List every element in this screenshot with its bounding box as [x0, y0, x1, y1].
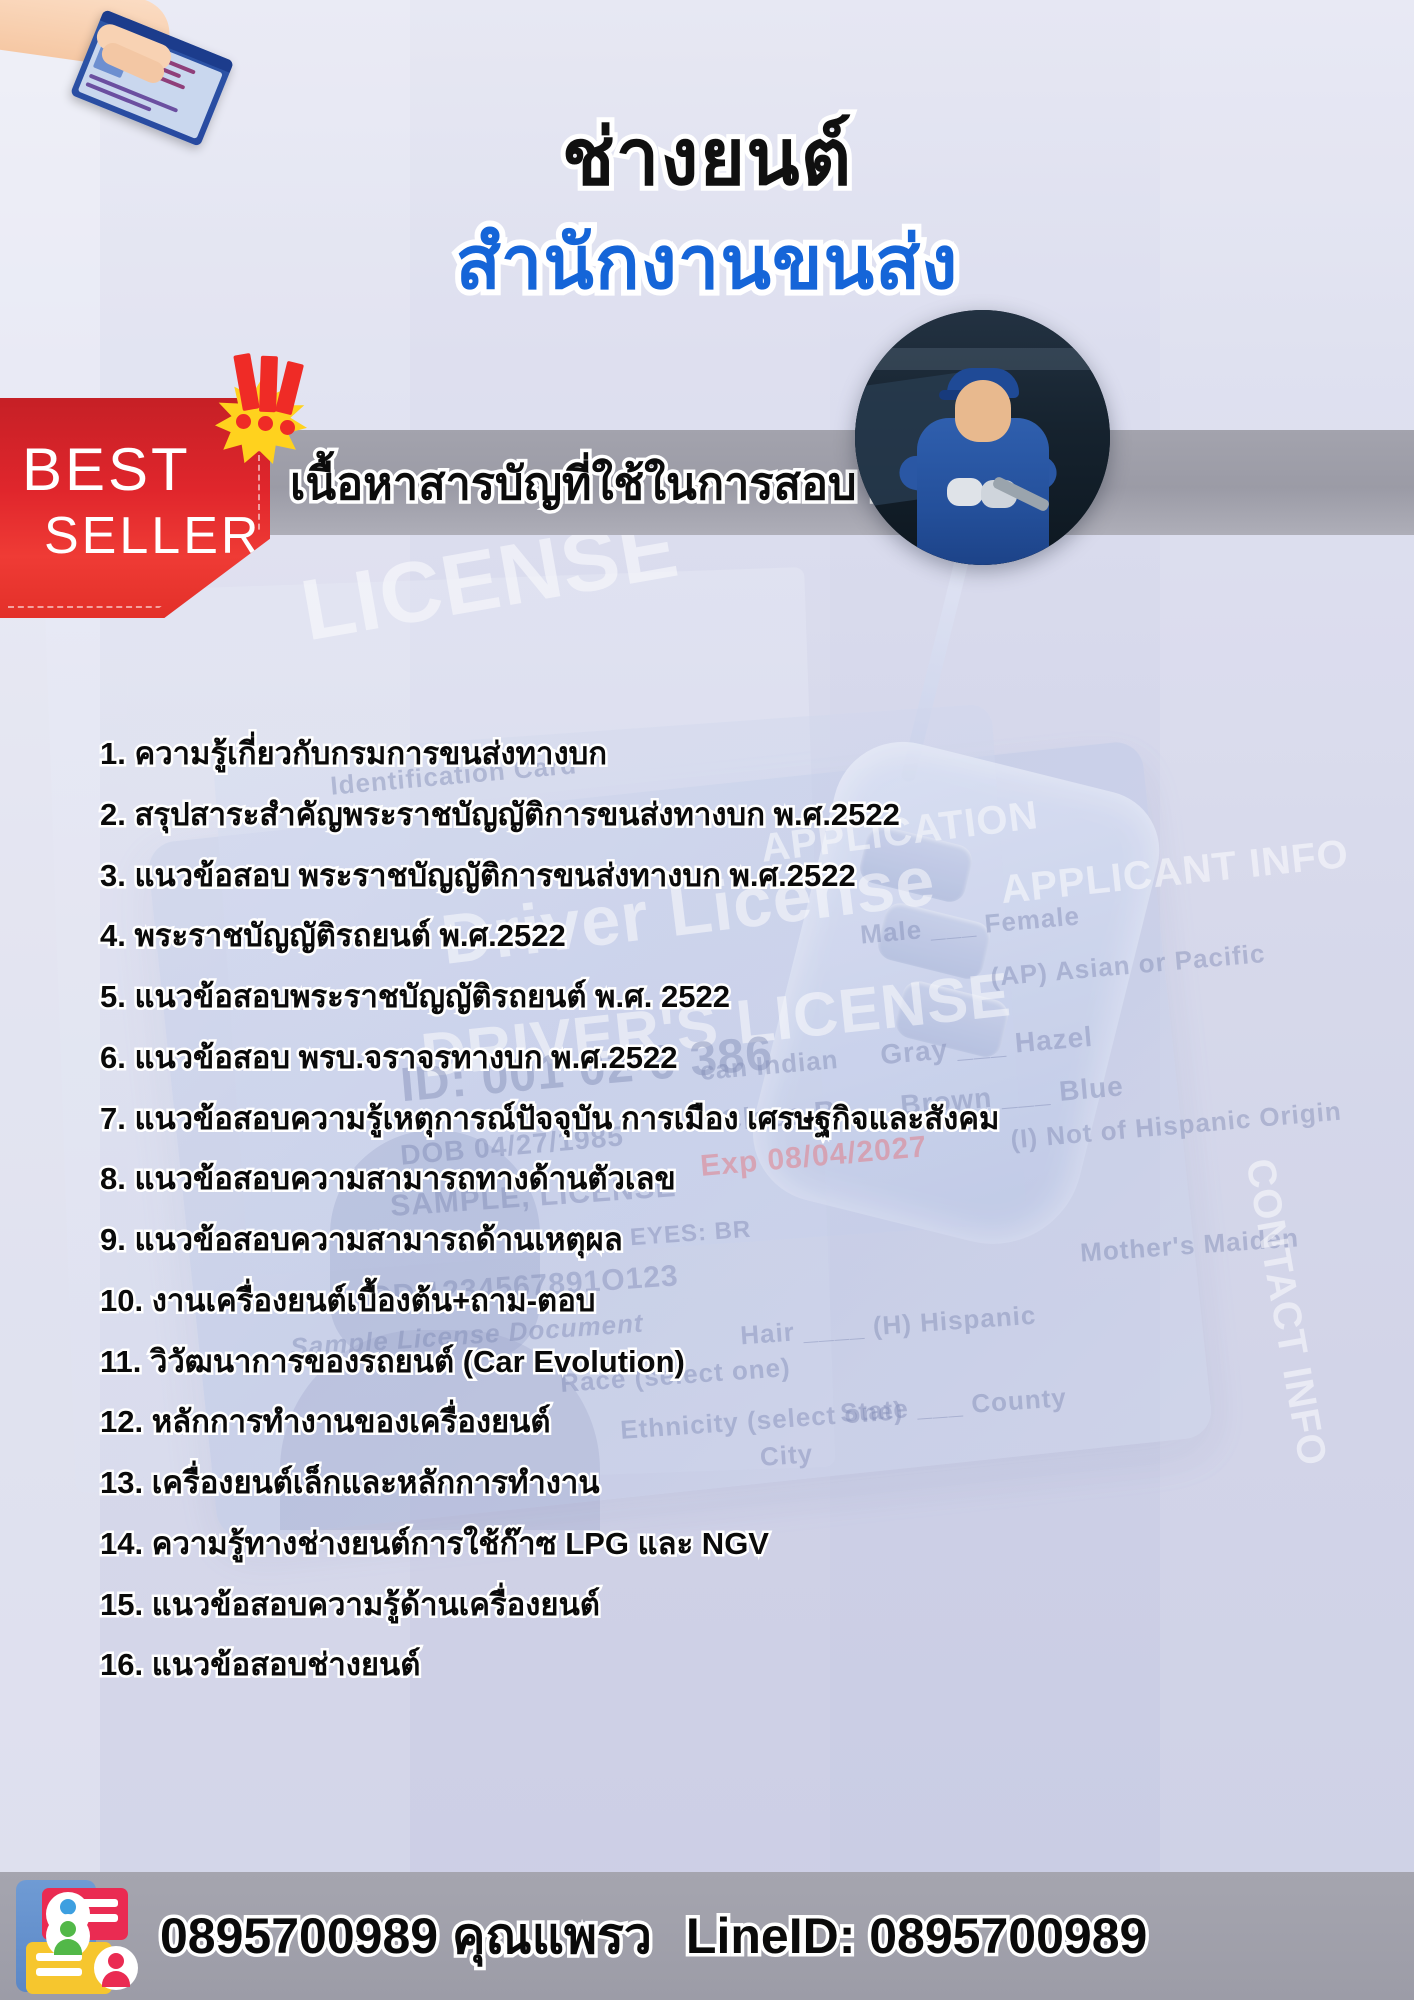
list-item: 15. แนวข้อสอบความรู้ด้านเครื่องยนต์ [100, 1586, 1250, 1625]
list-item: 10. งานเครื่องยนต์เบื้องต้น+ถาม-ตอบ [100, 1282, 1250, 1321]
contact-line-id[interactable]: LineID: 0895700989 [686, 1907, 1147, 1965]
list-item: 14. ความรู้ทางช่างยนต์การใช้ก๊าซ LPG และ… [100, 1525, 1250, 1564]
avatar [94, 1946, 138, 1990]
avatar [46, 1914, 90, 1958]
page-subtitle: สำนักงานขนส่ง [0, 226, 1414, 300]
technician-photo [855, 310, 1110, 565]
section-banner-label: เนื้อหาสารบัญที่ใช้ในการสอบ ดังนี้ [290, 437, 1290, 529]
list-item: 3. แนวข้อสอบ พระราชบัญญัติการขนส่งทางบก … [100, 857, 1250, 896]
list-item: 13. เครื่องยนต์เล็กและหลักการทำงาน [100, 1464, 1250, 1503]
list-item: 7. แนวข้อสอบความรู้เหตุการณ์ปัจจุบัน การ… [100, 1100, 1250, 1139]
list-item: 11. วิวัฒนาการของรถยนต์ (Car Evolution) [100, 1343, 1250, 1382]
page-title: ช่างยนต์ [0, 118, 1414, 196]
watermark-text: CONTACT INFO [1236, 1155, 1334, 1469]
list-item: 16. แนวข้อสอบช่างยนต์ [100, 1646, 1250, 1685]
list-item: 5. แนวข้อสอบพระราชบัญญัติรถยนต์ พ.ศ. 252… [100, 978, 1250, 1017]
list-item: 6. แนวข้อสอบ พรบ.จราจรทางบก พ.ศ.2522 [100, 1039, 1250, 1078]
poster-root: LICENSE Driver License APPLICATION APPLI… [0, 0, 1414, 2000]
contact-info[interactable]: 0895700989 คุณแพรว LineID: 0895700989 [160, 1872, 1147, 2000]
list-item: 1. ความรู้เกี่ยวกับกรมการขนส่งทางบก [100, 735, 1250, 774]
list-item: 12. หลักการทำงานของเครื่องยนต์ [100, 1403, 1250, 1442]
list-item: 2. สรุปสาระสำคัญพระราชบัญญัติการขนส่งทาง… [100, 796, 1250, 835]
syllabus-list: 1. ความรู้เกี่ยวกับกรมการขนส่งทางบก 2. ส… [100, 735, 1250, 1707]
triple-exclamation-burst-icon [210, 348, 320, 468]
list-item: 4. พระราชบัญญัติรถยนต์ พ.ศ.2522 [100, 917, 1250, 956]
contact-phone[interactable]: 0895700989 คุณแพรว [160, 1897, 652, 1976]
list-item: 8. แนวข้อสอบความสามารถทางด้านตัวเลข [100, 1160, 1250, 1199]
list-item: 9. แนวข้อสอบความสามารถด้านเหตุผล [100, 1221, 1250, 1260]
contact-footer: 0895700989 คุณแพรว LineID: 0895700989 [0, 1872, 1414, 2000]
